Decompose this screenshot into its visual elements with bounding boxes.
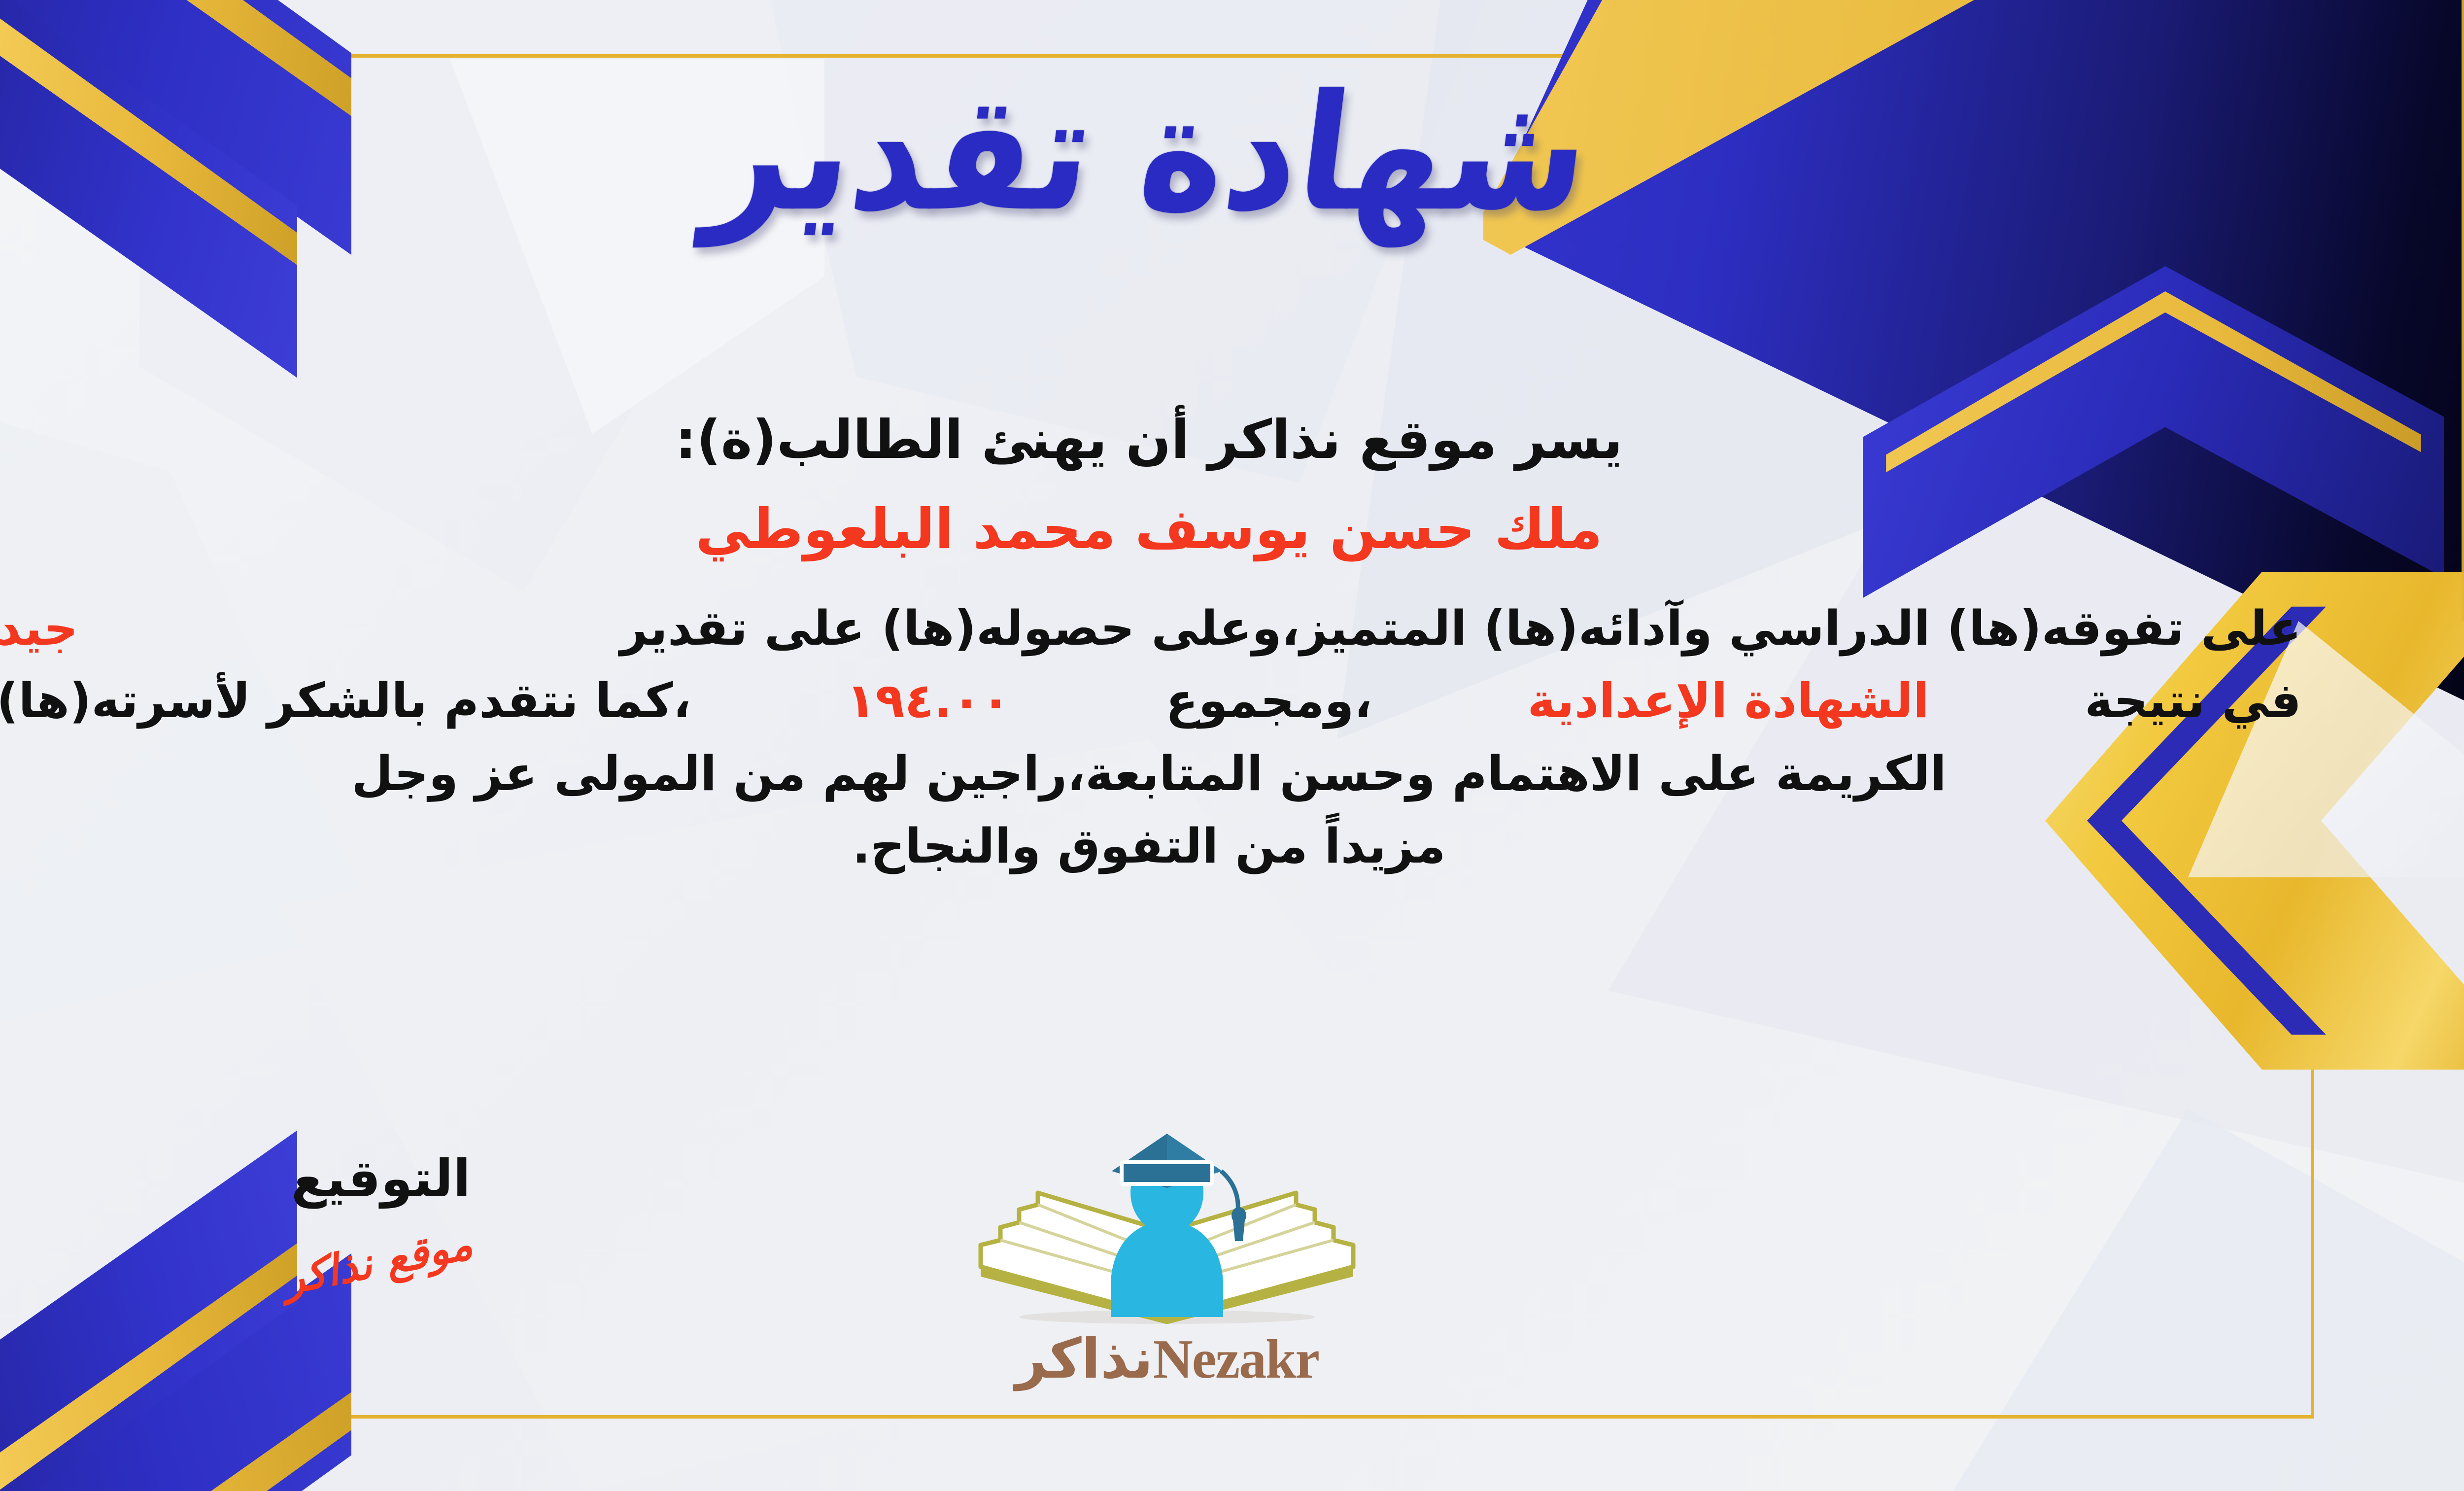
body-line-1: على تفوقه(ها) الدراسي وآدائه(ها) المتميز… bbox=[0, 592, 2301, 664]
body-line-2-suffix: ،كما نتقدم بالشكر لأسرته(ها) bbox=[0, 664, 691, 737]
body-paragraph: على تفوقه(ها) الدراسي وآدائه(ها) المتميز… bbox=[0, 592, 2301, 883]
logo-name-arabic: نذاكر bbox=[1015, 1327, 1153, 1391]
top-left-ornament bbox=[0, 0, 356, 429]
body-line-1-text: على تفوقه(ها) الدراسي وآدائه(ها) المتميز… bbox=[620, 592, 2301, 664]
right-thin-gold-accent bbox=[2462, 0, 2464, 621]
graduation-book-icon bbox=[925, 1124, 1408, 1336]
total-score: ١٩٤.٠٠ bbox=[823, 664, 1033, 737]
site-logo: Nezakrنذاكر bbox=[925, 1124, 1408, 1391]
certificate-canvas: شهادة تقدير يسر موقع نذاكر أن يهنئ الطال… bbox=[0, 0, 2464, 1491]
intro-line: يسر موقع نذاكر أن يهنئ الطالب(ة): bbox=[0, 409, 2301, 471]
body-line-2-middle: ،ومجموع bbox=[1165, 664, 1372, 737]
logo-wordmark: Nezakrنذاكر bbox=[925, 1327, 1408, 1391]
signature-label: التوقيع bbox=[208, 1148, 553, 1209]
body-line-2-prefix: في نتيجة bbox=[2085, 664, 2301, 737]
signature-block: التوقيع موقع نذاكر bbox=[208, 1148, 553, 1286]
exam-name: الشهادة الإعدادية bbox=[1505, 664, 1952, 737]
grade-value: جيد bbox=[0, 592, 78, 664]
certificate-body: يسر موقع نذاكر أن يهنئ الطالب(ة): ملك حس… bbox=[0, 409, 2301, 883]
logo-name-latin: Nezakr bbox=[1153, 1329, 1319, 1390]
body-line-4: مزيداً من التفوق والنجاح. bbox=[0, 810, 2301, 882]
student-name: ملك حسن يوسف محمد البلعوطي bbox=[0, 497, 2301, 561]
body-line-2: في نتيجة الشهادة الإعدادية ،ومجموع ١٩٤.٠… bbox=[0, 664, 2301, 737]
body-line-3: الكريمة على الاهتمام وحسن المتابعة،راجين… bbox=[0, 737, 2301, 810]
